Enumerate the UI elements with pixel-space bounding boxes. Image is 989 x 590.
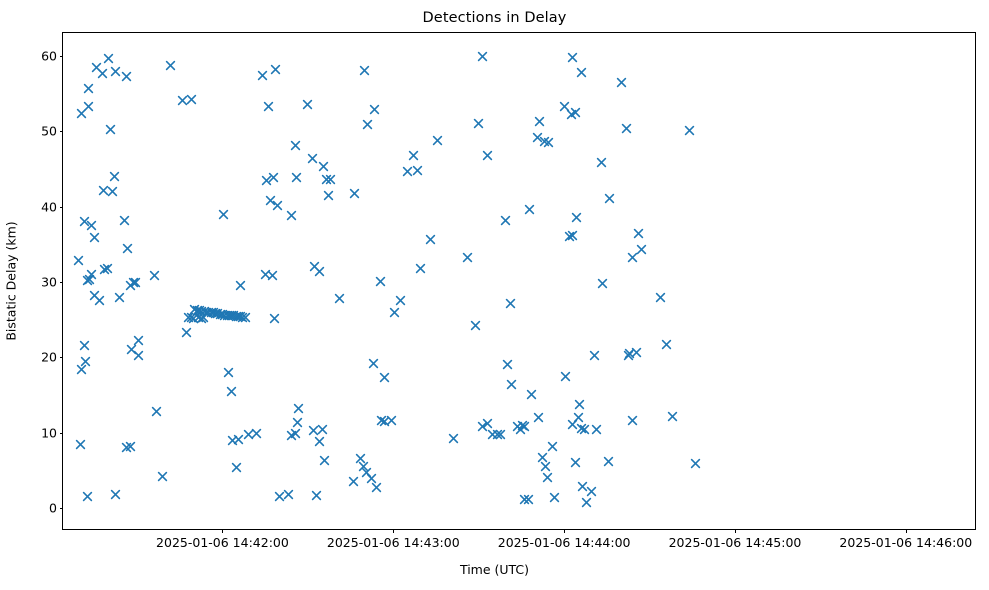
- scatter-marker: [223, 367, 234, 378]
- y-tick-label: 40: [41, 199, 57, 214]
- scatter-marker: [349, 188, 360, 199]
- scatter-marker: [560, 371, 571, 382]
- scatter-marker: [690, 458, 701, 469]
- scatter-marker: [636, 244, 647, 255]
- scatter-marker: [492, 429, 503, 440]
- scatter-marker: [84, 274, 95, 285]
- scatter-marker: [307, 153, 318, 164]
- scatter-marker: [684, 125, 695, 136]
- scatter-marker: [549, 492, 560, 503]
- scatter-marker: [362, 119, 373, 130]
- scatter-marker: [227, 435, 238, 446]
- scatter-marker: [198, 312, 209, 323]
- scatter-marker: [473, 118, 484, 129]
- scatter-marker: [203, 307, 214, 318]
- scatter-marker: [566, 109, 577, 120]
- scatter-marker: [574, 399, 585, 410]
- scatter-marker: [218, 209, 229, 220]
- scatter-marker: [596, 157, 607, 168]
- scatter-marker: [519, 421, 530, 432]
- scatter-marker: [526, 389, 537, 400]
- scatter-marker: [199, 306, 210, 317]
- scatter-marker: [667, 411, 678, 422]
- scatter-marker: [76, 364, 87, 375]
- scatter-marker: [73, 255, 84, 266]
- scatter-marker: [368, 358, 379, 369]
- scatter-marker: [268, 172, 279, 183]
- scatter-marker: [91, 62, 102, 73]
- scatter-marker: [448, 433, 459, 444]
- scatter-marker: [495, 429, 506, 440]
- scatter-marker: [267, 270, 278, 281]
- scatter-marker: [212, 308, 223, 319]
- scatter-marker: [432, 135, 443, 146]
- scatter-marker: [502, 359, 513, 370]
- scatter-marker: [302, 99, 313, 110]
- scatter-marker: [226, 310, 237, 321]
- x-tick-mark: [735, 529, 736, 533]
- scatter-marker: [286, 430, 297, 441]
- scatter-marker: [564, 231, 575, 242]
- scatter-marker: [358, 461, 369, 472]
- scatter-marker: [655, 292, 666, 303]
- scatter-marker: [576, 423, 587, 434]
- scatter-marker: [311, 490, 322, 501]
- scatter-marker: [537, 452, 548, 463]
- x-tick-mark: [906, 529, 907, 533]
- scatter-marker: [523, 494, 534, 505]
- scatter-marker: [512, 421, 523, 432]
- scatter-marker: [272, 200, 283, 211]
- scatter-marker: [222, 310, 233, 321]
- scatter-marker: [355, 453, 366, 464]
- scatter-marker: [251, 428, 262, 439]
- scatter-marker: [395, 295, 406, 306]
- scatter-marker: [317, 424, 328, 435]
- scatter-marker: [543, 137, 554, 148]
- scatter-marker: [119, 215, 130, 226]
- scatter-marker: [208, 307, 219, 318]
- scatter-marker: [542, 472, 553, 483]
- scatter-marker: [577, 481, 588, 492]
- scatter-marker: [177, 95, 188, 106]
- scatter-marker: [80, 356, 91, 367]
- scatter-marker: [319, 455, 330, 466]
- scatter-marker: [128, 277, 139, 288]
- scatter-marker: [415, 263, 426, 274]
- scatter-marker: [83, 101, 94, 112]
- scatter-marker: [321, 174, 332, 185]
- scatter-marker: [477, 421, 488, 432]
- scatter-marker: [102, 263, 113, 274]
- scatter-marker: [567, 419, 578, 430]
- scatter-marker: [121, 71, 132, 82]
- x-tick-mark: [393, 529, 394, 533]
- scatter-marker: [219, 310, 230, 321]
- page-title: Detections in Delay: [0, 10, 989, 26]
- scatter-marker: [402, 166, 413, 177]
- scatter-marker: [235, 280, 246, 291]
- scatter-marker: [589, 350, 600, 361]
- x-tick-mark: [564, 529, 565, 533]
- y-axis-label: Bistatic Delay (km): [4, 221, 19, 340]
- x-tick-label: 2025-01-06 14:43:00: [327, 535, 460, 550]
- scatter-marker: [293, 403, 304, 414]
- scatter-marker: [99, 264, 110, 275]
- scatter-marker: [571, 212, 582, 223]
- scatter-marker: [189, 304, 200, 315]
- y-tick-mark: [60, 56, 64, 57]
- scatter-marker: [107, 186, 118, 197]
- scatter-marker: [260, 269, 271, 280]
- scatter-marker: [86, 269, 97, 280]
- y-tick-mark: [60, 131, 64, 132]
- scatter-marker: [75, 439, 86, 450]
- scatter-marker: [603, 456, 614, 467]
- scatter-marker: [533, 412, 544, 423]
- scatter-marker: [505, 298, 516, 309]
- scatter-marker: [586, 486, 597, 497]
- scatter-marker: [231, 462, 242, 473]
- scatter-marker: [269, 313, 280, 324]
- scatter-marker: [604, 193, 615, 204]
- scatter-marker: [500, 215, 511, 226]
- scatter-marker: [579, 424, 590, 435]
- scatter-marker: [323, 190, 334, 201]
- scatter-marker: [477, 51, 488, 62]
- scatter-marker: [366, 473, 377, 484]
- scatter-marker: [83, 83, 94, 94]
- scatter-marker: [121, 442, 132, 453]
- scatter-marker: [359, 65, 370, 76]
- scatter-marker: [633, 228, 644, 239]
- scatter-marker: [196, 306, 207, 317]
- scatter-marker: [186, 312, 197, 323]
- scatter-marker: [369, 104, 380, 115]
- scatter-marker: [515, 424, 526, 435]
- scatter-marker: [570, 457, 581, 468]
- scatter-marker: [286, 210, 297, 221]
- scatter-marker: [567, 230, 578, 241]
- y-tick-mark: [60, 508, 64, 509]
- scatter-marker: [631, 347, 642, 358]
- scatter-marker: [94, 295, 105, 306]
- scatter-marker: [109, 171, 120, 182]
- scatter-marker: [110, 489, 121, 500]
- scatter-marker: [661, 339, 672, 350]
- scatter-marker: [265, 195, 276, 206]
- scatter-marker: [89, 290, 100, 301]
- scatter-marker: [151, 406, 162, 417]
- scatter-marker: [283, 489, 294, 500]
- scatter-marker: [482, 418, 493, 429]
- y-tick-label: 10: [41, 425, 57, 440]
- scatter-marker: [309, 261, 320, 272]
- scatter-marker: [348, 476, 359, 487]
- scatter-marker: [547, 441, 558, 452]
- scatter-marker: [540, 461, 551, 472]
- scatter-marker: [616, 77, 627, 88]
- scatter-marker: [76, 108, 87, 119]
- scatter-marker: [261, 175, 272, 186]
- scatter-marker: [126, 344, 137, 355]
- scatter-marker: [462, 252, 473, 263]
- scatter-marker: [165, 60, 176, 71]
- scatter-marker: [627, 415, 638, 426]
- scatter-marker: [308, 425, 319, 436]
- scatter-marker: [206, 307, 217, 318]
- x-tick-label: 2025-01-06 14:44:00: [498, 535, 631, 550]
- scatter-marker: [573, 412, 584, 423]
- matplotlib-figure: Detections in Delay Bistatic Delay (km) …: [0, 0, 989, 590]
- scatter-marker: [192, 305, 203, 316]
- scatter-marker: [110, 66, 121, 77]
- scatter-marker: [290, 140, 301, 151]
- y-tick-label: 60: [41, 48, 57, 63]
- scatter-marker: [567, 52, 578, 63]
- scatter-marker: [97, 68, 108, 79]
- y-tick-mark: [60, 433, 64, 434]
- scatter-marker: [186, 94, 197, 105]
- scatter-marker: [334, 293, 345, 304]
- scatter-marker: [624, 348, 635, 359]
- y-tick-label: 0: [49, 501, 57, 516]
- y-tick-mark: [60, 207, 64, 208]
- scatter-marker: [318, 161, 329, 172]
- scatter-marker: [559, 101, 570, 112]
- scatter-marker: [133, 335, 144, 346]
- x-tick-label: 2025-01-06 14:46:00: [839, 535, 972, 550]
- scatter-marker: [539, 136, 550, 147]
- scatter-marker: [149, 270, 160, 281]
- scatter-marker: [226, 386, 237, 397]
- scatter-marker: [314, 266, 325, 277]
- scatter-marker: [201, 307, 212, 318]
- scatter-marker: [375, 276, 386, 287]
- scatter-marker: [125, 280, 136, 291]
- y-tick-mark: [60, 357, 64, 358]
- scatter-marker: [193, 312, 204, 323]
- scatter-marker: [240, 312, 251, 323]
- scatter-marker: [181, 327, 192, 338]
- scatter-marker: [627, 252, 638, 263]
- scatter-marker: [263, 101, 274, 112]
- y-tick-label: 50: [41, 124, 57, 139]
- scatter-marker: [270, 64, 281, 75]
- scatter-marker: [98, 185, 109, 196]
- scatter-marker: [89, 232, 100, 243]
- scatter-marker: [183, 312, 194, 323]
- scatter-plot-area: [63, 33, 975, 529]
- scatter-marker: [133, 350, 144, 361]
- scatter-marker: [325, 174, 336, 185]
- scatter-marker: [233, 434, 244, 445]
- scatter-marker: [274, 491, 285, 502]
- scatter-marker: [519, 494, 530, 505]
- scatter-marker: [130, 277, 141, 288]
- scatter-marker: [376, 415, 387, 426]
- scatter-marker: [291, 172, 302, 183]
- scatter-marker: [235, 311, 246, 322]
- scatter-marker: [233, 311, 244, 322]
- scatter-marker: [217, 309, 228, 320]
- scatter-marker: [487, 429, 498, 440]
- scatter-marker: [506, 379, 517, 390]
- scatter-marker: [231, 311, 242, 322]
- scatter-marker: [371, 482, 382, 493]
- x-tick-label: 2025-01-06 14:45:00: [669, 535, 802, 550]
- scatter-marker: [188, 313, 199, 324]
- scatter-marker: [215, 309, 226, 320]
- scatter-marker: [621, 123, 632, 134]
- x-tick-mark: [222, 529, 223, 533]
- scatter-marker: [82, 491, 93, 502]
- x-tick-label: 2025-01-06 14:42:00: [156, 535, 289, 550]
- scatter-marker: [86, 220, 97, 231]
- scatter-marker: [532, 132, 543, 143]
- scatter-marker: [243, 429, 254, 440]
- scatter-marker: [623, 350, 634, 361]
- scatter-marker: [379, 416, 390, 427]
- y-tick-mark: [60, 282, 64, 283]
- scatter-marker: [157, 471, 168, 482]
- scatter-marker: [470, 320, 481, 331]
- scatter-marker: [237, 312, 248, 323]
- plot-axes: 0102030405060 2025-01-06 14:42:002025-01…: [62, 32, 976, 530]
- scatter-marker: [292, 417, 303, 428]
- scatter-marker: [576, 67, 587, 78]
- scatter-marker: [125, 441, 136, 452]
- scatter-marker: [257, 70, 268, 81]
- scatter-marker: [79, 216, 90, 227]
- scatter-marker: [570, 107, 581, 118]
- y-tick-label: 30: [41, 275, 57, 290]
- scatter-marker: [534, 116, 545, 127]
- scatter-marker: [82, 275, 93, 286]
- scatter-marker: [105, 124, 116, 135]
- scatter-marker: [290, 428, 301, 439]
- scatter-marker: [194, 305, 205, 316]
- x-axis-label: Time (UTC): [0, 562, 989, 577]
- scatter-marker: [224, 310, 235, 321]
- scatter-marker: [114, 292, 125, 303]
- scatter-marker: [361, 467, 372, 478]
- scatter-marker: [122, 243, 133, 254]
- scatter-marker: [228, 310, 239, 321]
- scatter-marker: [379, 372, 390, 383]
- scatter-marker: [103, 53, 114, 64]
- scatter-marker: [386, 415, 397, 426]
- scatter-marker: [425, 234, 436, 245]
- scatter-marker: [524, 204, 535, 215]
- scatter-marker: [517, 420, 528, 431]
- scatter-marker: [591, 424, 602, 435]
- scatter-marker: [210, 308, 221, 319]
- scatter-marker: [314, 436, 325, 447]
- scatter-marker: [408, 150, 419, 161]
- scatter-marker: [196, 313, 207, 324]
- scatter-marker: [389, 307, 400, 318]
- scatter-marker: [482, 150, 493, 161]
- y-tick-label: 20: [41, 350, 57, 365]
- scatter-marker: [581, 497, 592, 508]
- scatter-marker: [412, 165, 423, 176]
- scatter-marker: [597, 278, 608, 289]
- scatter-marker: [79, 340, 90, 351]
